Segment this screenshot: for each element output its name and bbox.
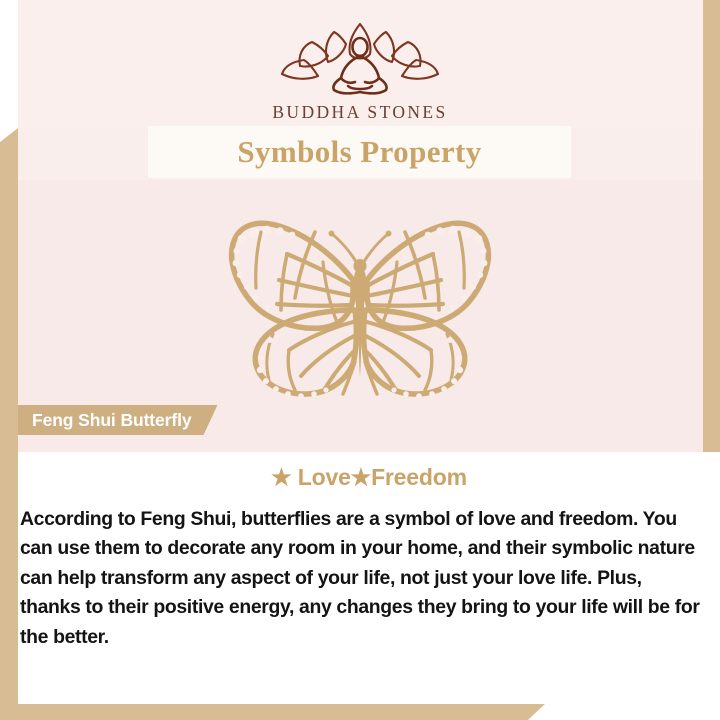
description-section: ★ Love★Freedom According to Feng Shui, b…: [18, 452, 720, 704]
title-banner: Symbols Property: [148, 126, 571, 178]
page-title: Symbols Property: [237, 134, 481, 170]
love-freedom-subheading: ★ Love★Freedom: [18, 464, 720, 491]
monarch-butterfly-icon: [195, 210, 525, 405]
promo-card: BUDDHA STONES Symbols Property: [0, 0, 720, 720]
description-paragraph: According to Feng Shui, butterflies are …: [16, 505, 710, 652]
tag-label: Feng Shui Butterfly: [32, 410, 192, 431]
brand-name: BUDDHA STONES: [0, 102, 720, 123]
frame-bottom-bar: [0, 704, 720, 720]
feng-shui-butterfly-tag: Feng Shui Butterfly: [18, 405, 218, 435]
lotus-meditation-figure-icon: [280, 22, 440, 98]
brand-logo: BUDDHA STONES: [0, 22, 720, 123]
